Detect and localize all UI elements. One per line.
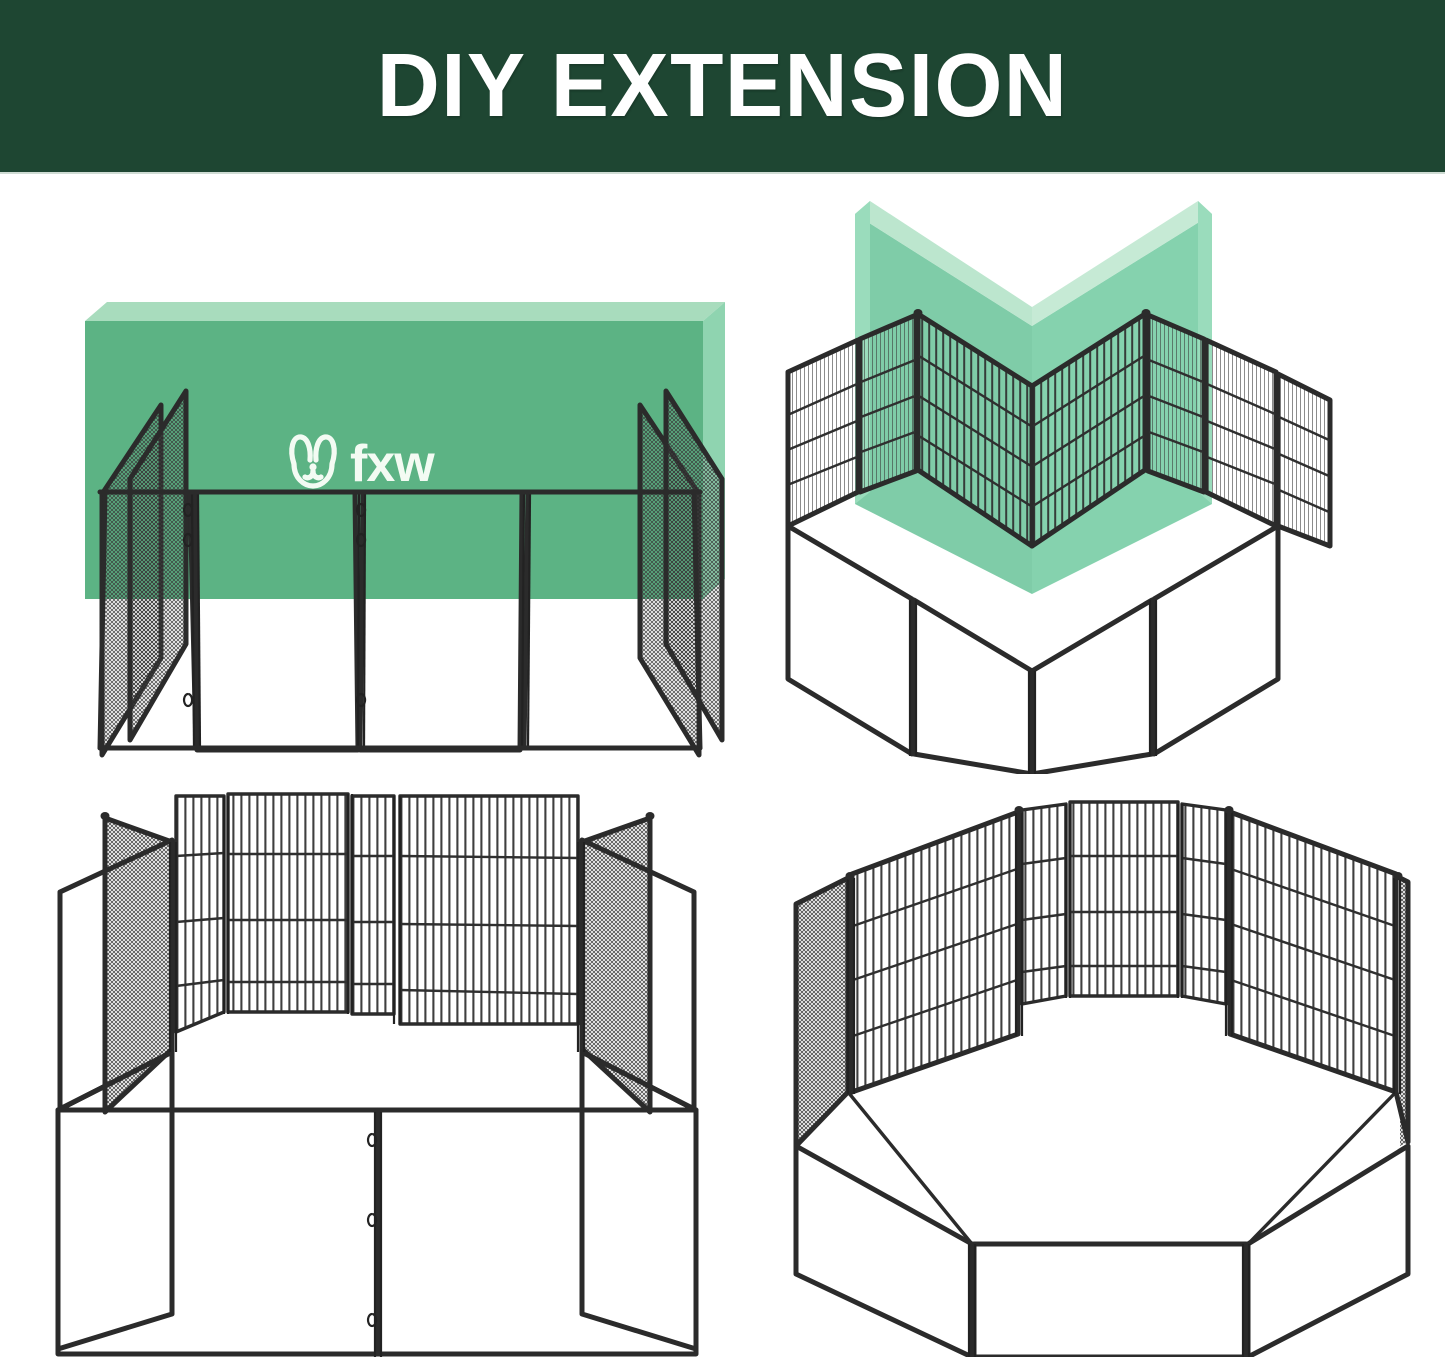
brand-wordmark: fxw (350, 435, 435, 493)
pen-octa-struts (796, 1092, 1396, 1244)
pen-octa-panel-4 (1070, 802, 1178, 996)
playpen-square (58, 794, 696, 1357)
pen-panel-back-1 (176, 796, 224, 1032)
pen-panel-back-2 (228, 794, 348, 1012)
pen-front-open-right (378, 1110, 696, 1354)
pen-octa-front-center (974, 1244, 1246, 1357)
pen-octa-front-left (796, 1146, 972, 1357)
page-title: DIY EXTENSION (377, 41, 1069, 131)
pen-front-open-left (788, 526, 912, 754)
illustration-wall-straight-extension: fxw (0, 174, 760, 774)
illustration-grid: fxw (0, 174, 1445, 1357)
illustration-octagon-pen-configuration (760, 774, 1445, 1357)
illustration-wall-corner-extension (760, 174, 1445, 774)
pen-octa-panel-5 (1182, 804, 1226, 1004)
pen-front-open-right (1154, 526, 1278, 754)
pen-panel-5 (1148, 315, 1204, 492)
pen-panel-6 (1206, 340, 1276, 526)
pen-octa-panel-1 (796, 878, 848, 1146)
pen-panel-back-4 (400, 796, 578, 1024)
pen-octa-panel-2 (852, 812, 1018, 1092)
pen-front-open-left (58, 1110, 378, 1354)
pen-front-open-mid-right (1032, 600, 1152, 774)
pen-panel-2 (860, 315, 916, 492)
illustration-square-pen-configuration (0, 774, 760, 1357)
pen-octa-panel-3 (1022, 804, 1066, 1004)
pen-panel-1 (788, 340, 858, 526)
pen-panel-back-3 (352, 796, 394, 1014)
pen-octa-front-right (1248, 1146, 1408, 1357)
playpen-octagon (796, 802, 1408, 1357)
pen-octa-panel-6 (1230, 812, 1396, 1092)
pen-front-open-mid-left (914, 600, 1032, 774)
pen-panel-7 (1278, 374, 1330, 546)
header-banner: DIY EXTENSION (0, 0, 1445, 172)
